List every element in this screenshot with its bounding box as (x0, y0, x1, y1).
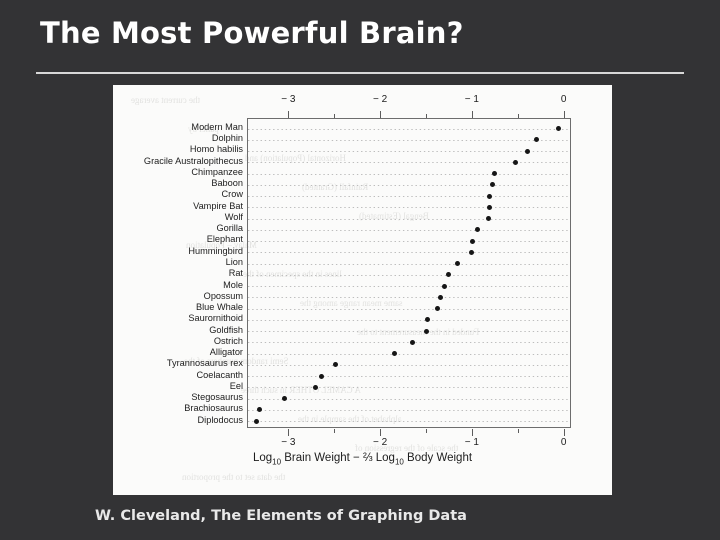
grid-row-dotted (248, 320, 570, 321)
x-tick-major (564, 429, 565, 436)
category-label: Modern Man (191, 123, 243, 132)
slide: The Most Powerful Brain? the current ave… (0, 0, 720, 540)
x-tick-major (380, 429, 381, 436)
data-point (254, 419, 259, 424)
data-point (487, 194, 492, 199)
grid-row-dotted (248, 162, 570, 163)
grid-row-dotted (248, 387, 570, 388)
data-point (470, 239, 475, 244)
x-axis-label: Log10 Brain Weight − ⅔ Log10 Body Weight (113, 452, 612, 466)
data-point (446, 272, 451, 277)
x-tick-minor (426, 429, 427, 433)
category-label: Gorilla (216, 224, 243, 233)
grid-row-dotted (248, 286, 570, 287)
data-point (490, 182, 495, 187)
grid-row-dotted (248, 297, 570, 298)
data-point (313, 385, 318, 390)
x-tick-major (472, 429, 473, 436)
data-point (442, 284, 447, 289)
x-tick-label: 0 (544, 94, 584, 105)
grid-row-dotted (248, 140, 570, 141)
category-label: Brachiosaurus (184, 404, 243, 413)
category-label: Dolphin (212, 134, 243, 143)
category-label: Stegosaurus (191, 393, 243, 402)
figure-panel: the current averagepanel byHorizontal (P… (113, 85, 612, 495)
category-label: Diplodocus (198, 416, 243, 425)
x-tick-label: − 3 (268, 94, 308, 105)
category-label: Coelacanth (197, 371, 243, 380)
grid-row-dotted (248, 275, 570, 276)
category-label: Elephant (207, 235, 243, 244)
x-tick-minor (334, 429, 335, 433)
grid-row-dotted (248, 354, 570, 355)
category-label: Vampire Bat (193, 202, 243, 211)
category-label: Wolf (225, 213, 243, 222)
category-label: Crow (222, 190, 243, 199)
grid-row-dotted (248, 376, 570, 377)
data-point (534, 137, 539, 142)
grid-row-dotted (248, 365, 570, 366)
category-label: Homo habilis (190, 145, 243, 154)
category-label: Tyrannosaurus rex (167, 359, 243, 368)
data-point (487, 205, 492, 210)
data-point (455, 261, 460, 266)
category-label: Rat (229, 269, 243, 278)
ghost-text: the data set to the proportion (182, 472, 285, 482)
x-tick-minor (518, 114, 519, 118)
data-point (469, 250, 474, 255)
x-tick-major (564, 111, 565, 118)
x-tick-label: − 1 (452, 94, 492, 105)
x-tick-minor (518, 429, 519, 433)
x-tick-major (288, 111, 289, 118)
data-point (438, 295, 443, 300)
x-tick-label: − 3 (268, 437, 308, 448)
grid-row-dotted (248, 219, 570, 220)
category-label: Blue Whale (196, 303, 243, 312)
ghost-text: the current average (131, 95, 200, 105)
category-label: Mole (223, 281, 243, 290)
grid-row-dotted (248, 174, 570, 175)
grid-row-dotted (248, 421, 570, 422)
data-point (435, 306, 440, 311)
grid-row-dotted (248, 252, 570, 253)
data-point (257, 407, 262, 412)
x-tick-major (472, 111, 473, 118)
category-label: Gracile Australopithecus (144, 157, 243, 166)
data-point (556, 126, 561, 131)
plot-area (247, 118, 571, 428)
data-point (525, 149, 530, 154)
data-point (282, 396, 287, 401)
page-title: The Most Powerful Brain? (40, 16, 690, 50)
category-label: Eel (230, 382, 243, 391)
grid-row-dotted (248, 151, 570, 152)
grid-row-dotted (248, 129, 570, 130)
grid-row-dotted (248, 241, 570, 242)
grid-row-dotted (248, 399, 570, 400)
data-point (333, 362, 338, 367)
x-tick-label: − 2 (360, 437, 400, 448)
x-tick-major (288, 429, 289, 436)
category-label: Alligator (210, 348, 243, 357)
data-point (424, 329, 429, 334)
grid-row-dotted (248, 196, 570, 197)
grid-row-dotted (248, 230, 570, 231)
x-tick-minor (334, 114, 335, 118)
category-label: Chimpanzee (191, 168, 243, 177)
grid-row-dotted (248, 410, 570, 411)
x-tick-minor (426, 114, 427, 118)
data-point (475, 227, 480, 232)
grid-row-dotted (248, 264, 570, 265)
x-tick-label: 0 (544, 437, 584, 448)
category-label: Saurornithoid (188, 314, 243, 323)
category-label: Goldfish (209, 326, 243, 335)
category-label: Hummingbird (188, 247, 243, 256)
category-label: Baboon (211, 179, 243, 188)
data-point (513, 160, 518, 165)
data-point (492, 171, 497, 176)
data-point (392, 351, 397, 356)
data-point (486, 216, 491, 221)
grid-row-dotted (248, 309, 570, 310)
data-point (410, 340, 415, 345)
x-tick-label: − 2 (360, 94, 400, 105)
category-label: Ostrich (214, 337, 243, 346)
x-tick-label: − 1 (452, 437, 492, 448)
source-citation: W. Cleveland, The Elements of Graphing D… (95, 508, 655, 524)
category-labels: Modern ManDolphinHomo habilisGracile Aus… (113, 118, 243, 428)
category-label: Opossum (204, 292, 243, 301)
title-divider (36, 72, 684, 74)
category-label: Lion (226, 258, 243, 267)
data-point (425, 317, 430, 322)
x-tick-major (380, 111, 381, 118)
grid-row-dotted (248, 207, 570, 208)
data-point (319, 374, 324, 379)
grid-row-dotted (248, 185, 570, 186)
grid-row-dotted (248, 331, 570, 332)
